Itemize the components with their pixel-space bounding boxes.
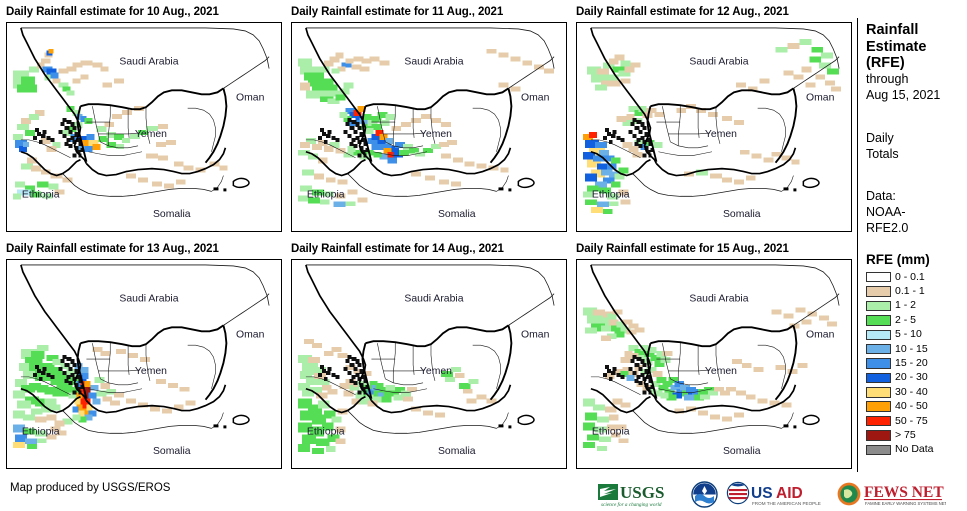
map-credit: Map produced by USGS/EROS bbox=[10, 482, 170, 494]
panel-title: Daily Rainfall estimate for 12 Aug., 202… bbox=[576, 4, 856, 20]
rainfall-raster-1: Saudi ArabiaOmanYemenEthiopiaSomalia bbox=[7, 23, 281, 231]
svg-text:USGS: USGS bbox=[620, 483, 664, 502]
panel-3: Daily Rainfall estimate for 12 Aug., 202… bbox=[576, 4, 856, 232]
svg-text:Ethiopia: Ethiopia bbox=[307, 426, 345, 437]
legend-item: 2 - 5 bbox=[866, 313, 966, 327]
legend-title: RFE (mm) bbox=[866, 252, 966, 267]
panel-4: Daily Rainfall estimate for 13 Aug., 202… bbox=[6, 241, 286, 469]
legend-swatch bbox=[866, 301, 891, 312]
svg-text:Somalia: Somalia bbox=[153, 209, 191, 220]
legend-label: 0.1 - 1 bbox=[895, 286, 925, 297]
rail-data-source: Data: NOAA- RFE2.0 bbox=[866, 188, 966, 236]
legend-swatch bbox=[866, 286, 891, 297]
legend-swatch bbox=[866, 401, 891, 412]
rfe-legend: RFE (mm) 0 - 0.10.1 - 11 - 22 - 55 - 101… bbox=[866, 252, 966, 457]
legend-label: 10 - 15 bbox=[895, 344, 928, 355]
legend-item: 15 - 20 bbox=[866, 356, 966, 370]
rainfall-raster-2: Saudi ArabiaOmanYemenEthiopiaSomalia bbox=[292, 23, 566, 231]
usaid-logo[interactable]: US AID FROM THE AMERICAN PEOPLE bbox=[725, 481, 829, 508]
legend-swatch bbox=[866, 387, 891, 398]
legend-swatch bbox=[866, 445, 891, 456]
legend-label: 15 - 20 bbox=[895, 358, 928, 369]
svg-text:Ethiopia: Ethiopia bbox=[592, 426, 630, 437]
svg-text:Somalia: Somalia bbox=[723, 446, 761, 457]
rail-daily-line2: Totals bbox=[866, 146, 966, 162]
svg-text:Saudi Arabia: Saudi Arabia bbox=[689, 57, 748, 68]
legend-item: 20 - 30 bbox=[866, 371, 966, 385]
svg-text:Oman: Oman bbox=[806, 329, 835, 340]
panel-title: Daily Rainfall estimate for 10 Aug., 202… bbox=[6, 4, 286, 20]
svg-text:Ethiopia: Ethiopia bbox=[22, 426, 60, 437]
svg-text:Somalia: Somalia bbox=[723, 209, 761, 220]
map-frame[interactable]: Saudi ArabiaOmanYemenEthiopiaSomalia bbox=[6, 22, 282, 232]
map-frame[interactable]: Saudi ArabiaOmanYemenEthiopiaSomalia bbox=[6, 259, 282, 469]
panel-title: Daily Rainfall estimate for 14 Aug., 202… bbox=[291, 241, 571, 257]
legend-item: No Data bbox=[866, 443, 966, 457]
rainfall-raster-4: Saudi ArabiaOmanYemenEthiopiaSomalia bbox=[7, 260, 281, 468]
legend-label: 50 - 75 bbox=[895, 416, 928, 427]
svg-text:Saudi Arabia: Saudi Arabia bbox=[404, 57, 463, 68]
map-frame[interactable]: Saudi ArabiaOmanYemenEthiopiaSomalia bbox=[291, 22, 567, 232]
legend-label: 20 - 30 bbox=[895, 372, 928, 383]
legend-swatch bbox=[866, 272, 891, 283]
legend-item: 10 - 15 bbox=[866, 342, 966, 356]
svg-text:Oman: Oman bbox=[236, 92, 265, 103]
svg-text:Ethiopia: Ethiopia bbox=[22, 189, 60, 200]
svg-text:Yemen: Yemen bbox=[420, 129, 452, 140]
rail-title-line2: Estimate bbox=[866, 39, 966, 56]
legend-label: 1 - 2 bbox=[895, 300, 916, 311]
map-frame[interactable]: Saudi ArabiaOmanYemenEthiopiaSomalia bbox=[291, 259, 567, 469]
svg-text:Saudi Arabia: Saudi Arabia bbox=[689, 294, 748, 305]
legend-item: > 75 bbox=[866, 428, 966, 442]
legend-label: 0 - 0.1 bbox=[895, 272, 925, 283]
map-canvas: Saudi ArabiaOmanYemenEthiopiaSomalia bbox=[292, 23, 566, 231]
svg-text:Yemen: Yemen bbox=[420, 366, 452, 377]
rail-divider bbox=[857, 18, 858, 472]
svg-text:Yemen: Yemen bbox=[135, 129, 167, 140]
panel-6: Daily Rainfall estimate for 15 Aug., 202… bbox=[576, 241, 856, 469]
panel-1: Daily Rainfall estimate for 10 Aug., 202… bbox=[6, 4, 286, 232]
panel-2: Daily Rainfall estimate for 11 Aug., 202… bbox=[291, 4, 571, 232]
svg-text:Somalia: Somalia bbox=[438, 446, 476, 457]
fewsnet-logo[interactable]: FEWS NET FAMINE EARLY WARNING SYSTEMS NE… bbox=[836, 481, 946, 508]
rail-data-line1: Data: bbox=[866, 188, 966, 204]
legend-item: 50 - 75 bbox=[866, 414, 966, 428]
legend-item: 30 - 40 bbox=[866, 385, 966, 399]
map-canvas: Saudi ArabiaOmanYemenEthiopiaSomalia bbox=[577, 23, 851, 231]
svg-text:Saudi Arabia: Saudi Arabia bbox=[119, 294, 178, 305]
rail-through-line1: through bbox=[866, 71, 966, 87]
rail-title-line1: Rainfall bbox=[866, 22, 966, 39]
svg-text:FROM THE AMERICAN PEOPLE: FROM THE AMERICAN PEOPLE bbox=[752, 501, 821, 506]
legend-item: 0.1 - 1 bbox=[866, 284, 966, 298]
svg-text:Saudi Arabia: Saudi Arabia bbox=[404, 294, 463, 305]
legend-label: 2 - 5 bbox=[895, 315, 916, 326]
map-canvas: Saudi ArabiaOmanYemenEthiopiaSomalia bbox=[7, 260, 281, 468]
panel-title: Daily Rainfall estimate for 15 Aug., 202… bbox=[576, 241, 856, 257]
panel-title: Daily Rainfall estimate for 13 Aug., 202… bbox=[6, 241, 286, 257]
map-canvas: Saudi ArabiaOmanYemenEthiopiaSomalia bbox=[577, 260, 851, 468]
rail-data-line2: NOAA- bbox=[866, 204, 966, 220]
legend-item: 0 - 0.1 bbox=[866, 270, 966, 284]
rail-data-line3: RFE2.0 bbox=[866, 220, 966, 236]
svg-text:Oman: Oman bbox=[521, 329, 550, 340]
rail-daily-totals: Daily Totals bbox=[866, 130, 966, 162]
rail-through-line2: Aug 15, 2021 bbox=[866, 87, 966, 103]
svg-text:FEWS NET: FEWS NET bbox=[864, 484, 944, 501]
legend-label: > 75 bbox=[895, 430, 916, 441]
rail-title: Rainfall Estimate (RFE) bbox=[866, 22, 966, 72]
rainfall-raster-3: Saudi ArabiaOmanYemenEthiopiaSomalia bbox=[577, 23, 851, 231]
svg-text:Ethiopia: Ethiopia bbox=[592, 189, 630, 200]
svg-text:FAMINE EARLY WARNING SYSTEMS N: FAMINE EARLY WARNING SYSTEMS NETWORK bbox=[865, 501, 946, 506]
legend-swatch bbox=[866, 358, 891, 369]
svg-text:science for a changing world: science for a changing world bbox=[601, 501, 662, 508]
legend-rows: 0 - 0.10.1 - 11 - 22 - 55 - 1010 - 1515 … bbox=[866, 270, 966, 457]
legend-item: 5 - 10 bbox=[866, 328, 966, 342]
legend-swatch bbox=[866, 416, 891, 427]
map-canvas: Saudi ArabiaOmanYemenEthiopiaSomalia bbox=[292, 260, 566, 468]
svg-text:Oman: Oman bbox=[521, 92, 550, 103]
legend-label: 30 - 40 bbox=[895, 387, 928, 398]
map-frame[interactable]: Saudi ArabiaOmanYemenEthiopiaSomalia bbox=[576, 259, 852, 469]
legend-swatch bbox=[866, 344, 891, 355]
svg-text:Yemen: Yemen bbox=[135, 366, 167, 377]
legend-label: 5 - 10 bbox=[895, 329, 922, 340]
agency-logos: USGS science for a changing world US AID bbox=[598, 479, 946, 509]
panel-5: Daily Rainfall estimate for 14 Aug., 202… bbox=[291, 241, 571, 469]
svg-text:Oman: Oman bbox=[806, 92, 835, 103]
svg-text:US: US bbox=[751, 485, 773, 502]
legend-label: 40 - 50 bbox=[895, 401, 928, 412]
legend-swatch bbox=[866, 430, 891, 441]
svg-text:Somalia: Somalia bbox=[438, 209, 476, 220]
legend-label: No Data bbox=[895, 444, 934, 455]
svg-text:Oman: Oman bbox=[236, 329, 265, 340]
rainfall-raster-5: Saudi ArabiaOmanYemenEthiopiaSomalia bbox=[292, 260, 566, 468]
legend-item: 1 - 2 bbox=[866, 299, 966, 313]
svg-text:Yemen: Yemen bbox=[705, 129, 737, 140]
svg-text:AID: AID bbox=[776, 485, 803, 502]
map-canvas: Saudi ArabiaOmanYemenEthiopiaSomalia bbox=[7, 23, 281, 231]
rail-through: through Aug 15, 2021 bbox=[866, 71, 966, 103]
rail-daily-line1: Daily bbox=[866, 130, 966, 146]
svg-text:Saudi Arabia: Saudi Arabia bbox=[119, 57, 178, 68]
svg-text:Ethiopia: Ethiopia bbox=[307, 189, 345, 200]
noaa-logo[interactable] bbox=[691, 481, 718, 508]
legend-swatch bbox=[866, 330, 891, 341]
legend-rail: Rainfall Estimate (RFE) through Aug 15, … bbox=[857, 0, 967, 472]
legend-item: 40 - 50 bbox=[866, 400, 966, 414]
rail-title-line3: (RFE) bbox=[866, 55, 966, 72]
panel-title: Daily Rainfall estimate for 11 Aug., 202… bbox=[291, 4, 571, 20]
svg-text:Yemen: Yemen bbox=[705, 366, 737, 377]
usgs-logo[interactable]: USGS science for a changing world bbox=[598, 481, 684, 508]
legend-swatch bbox=[866, 373, 891, 384]
svg-text:Somalia: Somalia bbox=[153, 446, 191, 457]
map-frame[interactable]: Saudi ArabiaOmanYemenEthiopiaSomalia bbox=[576, 22, 852, 232]
legend-swatch bbox=[866, 315, 891, 326]
rainfall-raster-6: Saudi ArabiaOmanYemenEthiopiaSomalia bbox=[577, 260, 851, 468]
